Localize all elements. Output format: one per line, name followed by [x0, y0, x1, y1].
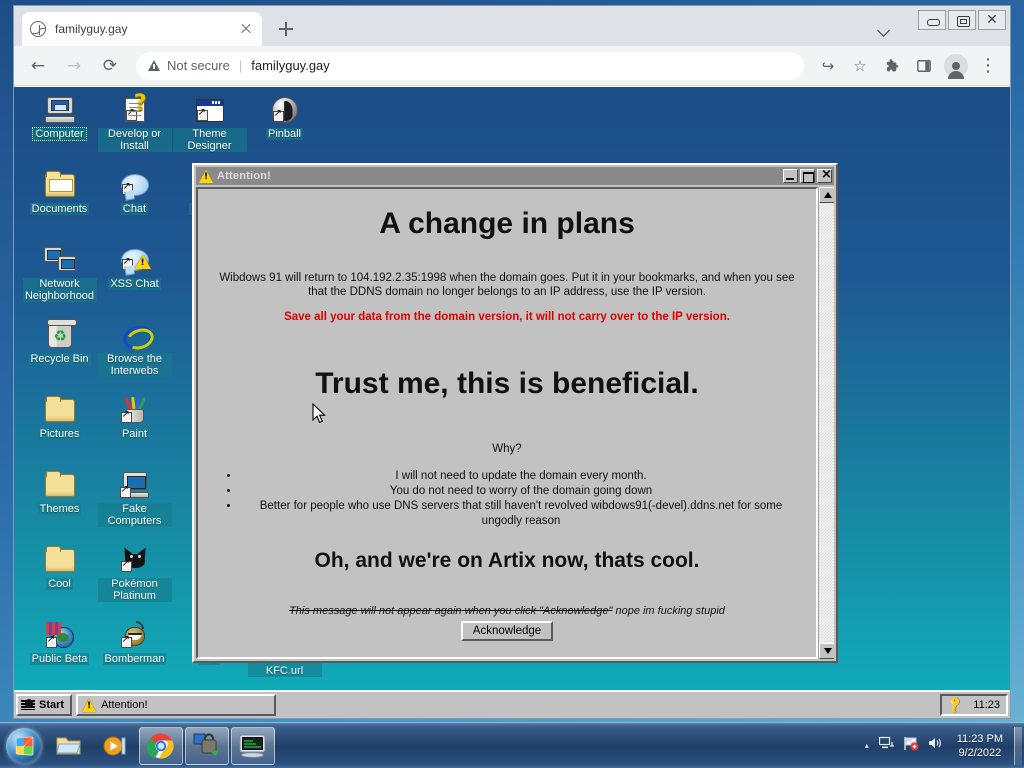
maximize-button[interactable] [948, 10, 976, 30]
not-secure-warning-icon [148, 60, 160, 71]
windows7-system-tray: ▴ [859, 723, 1024, 768]
desktop-icon-documents[interactable]: Documents [22, 166, 97, 241]
new-tab-button[interactable] [272, 15, 300, 43]
dialog-heading: A change in plans [212, 207, 802, 241]
dialog-why-label: Why? [212, 443, 802, 455]
desktop-icon-theme-designer[interactable]: Theme Designer [172, 91, 247, 166]
back-icon[interactable]: ← [23, 51, 53, 81]
desktop-icon-label: Public Beta [30, 653, 90, 665]
dialog-button-row: Acknowledge [212, 621, 802, 641]
desktop-icon-label: Recycle Bin [28, 353, 90, 365]
tab-title: familyguy.gay [55, 22, 238, 36]
browser-tab[interactable]: familyguy.gay [22, 12, 262, 46]
window-controls: ✕ [916, 10, 1006, 30]
desktop-icon-label: Develop or Install [98, 128, 172, 152]
desktop-icon-public-beta[interactable]: Public Beta [22, 616, 97, 691]
action-center-flag-icon[interactable] [903, 736, 919, 756]
desktop-icon-label: Network Neighborhood [23, 278, 97, 302]
desktop-icon-label: Cool [46, 578, 73, 590]
start-flag-icon [21, 698, 36, 712]
url-text: familyguy.gay [251, 58, 330, 73]
network-neighborhood-icon [43, 244, 77, 276]
attention-dialog: Attention! A change in plans Wibdows 91 … [192, 163, 838, 663]
side-panel-icon[interactable] [910, 52, 938, 80]
windows7-clock[interactable]: 11:23 PM 9/2/2022 [947, 732, 1011, 760]
taskbar-remote-desktop-button[interactable] [231, 727, 275, 765]
dialog-headline-2: Trust me, this is beneficial. [212, 367, 802, 401]
desktop-icon-label: Paint [120, 428, 149, 440]
dialog-headline-3: Oh, and we're on Artix now, thats cool. [212, 549, 802, 573]
desktop-icon-label: Computer [33, 128, 85, 140]
more-menu-icon[interactable]: ⋮ [974, 52, 1002, 80]
desktop-icon-pokemon-platinum[interactable]: Pokémon Platinum [97, 541, 172, 616]
warning-triangle-icon [82, 699, 96, 712]
taskbar-media-player-button[interactable] [93, 727, 137, 765]
volume-icon[interactable] [927, 736, 943, 755]
desktop-icon-label: Documents [30, 203, 90, 215]
reload-icon[interactable]: ⟳ [95, 51, 125, 81]
dialog-content: A change in plans Wibdows 91 will return… [196, 187, 818, 659]
dialog-title-bar[interactable]: Attention! [196, 167, 834, 185]
window-icon [193, 94, 227, 126]
list-item: You do not need to worry of the domain g… [240, 484, 802, 499]
desktop-icon-computer[interactable]: Computer [22, 91, 97, 166]
clock-time: 11:23 PM [957, 733, 1003, 745]
extensions-puzzle-icon[interactable] [878, 52, 906, 80]
windows7-desktop: familyguy.gay ✕ ← → ⟳ Not secure | famil… [0, 0, 1024, 768]
network-icon[interactable] [879, 736, 895, 755]
chrome-tab-strip: familyguy.gay ✕ [14, 6, 1010, 46]
security-status-label: Not secure [167, 58, 230, 73]
windows-start-orb[interactable] [2, 726, 46, 766]
desktop-icon-label: Bomberman [103, 653, 167, 665]
desktop-icon-recycle-bin[interactable]: Recycle Bin [22, 316, 97, 391]
dialog-minimize-button[interactable] [783, 169, 798, 183]
start-button-label: Start [39, 699, 64, 711]
taskbar-security-app-button[interactable] [185, 727, 229, 765]
scroll-down-icon[interactable] [819, 643, 834, 659]
desktop-icon-pinball[interactable]: Pinball [247, 91, 322, 166]
desktop-icon-label: XSS Chat [108, 278, 160, 290]
address-bar[interactable]: Not secure | familyguy.gay [136, 52, 804, 80]
chrome-browser-window: familyguy.gay ✕ ← → ⟳ Not secure | famil… [14, 6, 1010, 718]
list-item: I will not need to update the domain eve… [240, 469, 802, 484]
show-desktop-button[interactable] [1014, 727, 1022, 765]
computer-icon [43, 94, 77, 126]
dialog-maximize-button[interactable] [800, 169, 815, 183]
bookmark-star-icon[interactable]: ☆ [846, 52, 874, 80]
taskbar-item-label: Attention! [101, 699, 147, 711]
profile-avatar[interactable] [944, 54, 968, 78]
dialog-paragraph: Wibdows 91 will return to 104.192.2.35:1… [212, 271, 802, 299]
list-item: Better for people who use DNS servers th… [240, 499, 802, 529]
dialog-close-button[interactable] [817, 169, 832, 183]
dialog-reason-list: I will not need to update the domain eve… [212, 469, 802, 529]
windows7-taskbar: ▴ [0, 722, 1024, 768]
dialog-warning-text: Save all your data from the domain versi… [212, 311, 802, 323]
desktop-icon-label: Pokémon Platinum [98, 578, 172, 602]
desktop-icon-cool[interactable]: Cool [22, 541, 97, 616]
wibdows91-taskbar: Start Attention! 🔑 11:23 [14, 690, 1010, 718]
desktop-icon-bomberman[interactable]: Bomberman [97, 616, 172, 691]
taskbar-task-list: Attention! [76, 694, 940, 716]
folder-open-icon [43, 169, 77, 201]
desktop-icon-themes[interactable]: Themes [22, 466, 97, 541]
desktop-icon-label: Fake Computers [98, 503, 172, 527]
desktop-icon-paint[interactable]: Paint [97, 391, 172, 466]
desktop-icon-label: Pictures [38, 428, 82, 440]
acknowledge-button[interactable]: Acknowledge [461, 621, 553, 641]
dialog-body: A change in plans Wibdows 91 will return… [196, 187, 834, 659]
dialog-footer-note: This message will not appear again when … [212, 605, 802, 617]
fake-computer-icon [118, 469, 152, 501]
desktop-icon-chat[interactable]: Chat [97, 166, 172, 241]
key-icon[interactable]: 🔑 [946, 695, 966, 715]
folder-icon [43, 544, 77, 576]
dialog-footer-struck: This message will not appear again when … [289, 605, 612, 617]
wibdows91-desktop: Computer ? Develop or Install Theme Desi… [14, 87, 1010, 718]
desktop-icon-fake-computers[interactable]: Fake Computers [97, 466, 172, 541]
desktop-icon-develop-or-install[interactable]: ? Develop or Install [97, 91, 172, 166]
share-icon[interactable]: ↪ [814, 52, 842, 80]
desktop-icon-pictures[interactable]: Pictures [22, 391, 97, 466]
dialog-scrollbar[interactable] [818, 187, 834, 659]
desktop-icon-xss-chat[interactable]: XSS Chat [97, 241, 172, 316]
browser-orbit-icon [118, 319, 152, 351]
close-window-button[interactable]: ✕ [978, 10, 1006, 30]
taskbar-explorer-button[interactable] [47, 727, 91, 765]
bomberman-icon [118, 619, 152, 651]
start-button[interactable]: Start [16, 694, 72, 716]
dialog-footer-tail: nope im fucking stupid [612, 605, 725, 617]
person-icon [952, 62, 960, 70]
system-tray: 🔑 11:23 [940, 694, 1008, 716]
chrome-toolbar: ← → ⟳ Not secure | familyguy.gay ↪ ☆ ⋮ [14, 46, 1010, 86]
dialog-title: Attention! [217, 170, 781, 182]
paint-cup-icon [118, 394, 152, 426]
folder-icon [43, 394, 77, 426]
desktop-icon-label: Pinball [266, 128, 303, 140]
taskbar-chrome-button[interactable] [139, 727, 183, 765]
close-tab-icon[interactable] [238, 21, 254, 37]
chevron-down-icon[interactable] [876, 22, 892, 38]
scrollbar-track[interactable] [819, 203, 834, 643]
forward-icon[interactable]: → [59, 51, 89, 81]
globe-favicon-icon [30, 21, 46, 37]
chat-warning-icon [118, 244, 152, 276]
clock-date: 9/2/2022 [958, 747, 1001, 759]
folder-icon [43, 469, 77, 501]
taskbar-item-attention[interactable]: Attention! [76, 694, 276, 716]
taskbar-clock[interactable]: 11:23 [973, 699, 1000, 711]
chat-bubble-icon [118, 169, 152, 201]
pokemon-icon [118, 544, 152, 576]
omnibox-divider: | [239, 58, 242, 73]
show-hidden-icons-icon[interactable]: ▴ [865, 741, 869, 750]
desktop-icon-label: Themes [38, 503, 82, 515]
desktop-icon-label: Chat [121, 203, 148, 215]
desktop-icon-label: Browse the Interwebs [98, 353, 172, 377]
warning-triangle-icon [199, 170, 213, 183]
desktop-icon-browse-the-interwebs[interactable]: Browse the Interwebs [97, 316, 172, 391]
help-document-icon: ? [118, 94, 152, 126]
recycle-bin-icon [43, 319, 77, 351]
scroll-up-icon[interactable] [819, 187, 834, 203]
pinball-icon [268, 94, 302, 126]
minimize-button[interactable] [918, 10, 946, 30]
desktop-icon-label: Theme Designer [173, 128, 247, 152]
globe-beta-icon [43, 619, 77, 651]
desktop-icon-network-neighborhood[interactable]: Network Neighborhood [22, 241, 97, 316]
